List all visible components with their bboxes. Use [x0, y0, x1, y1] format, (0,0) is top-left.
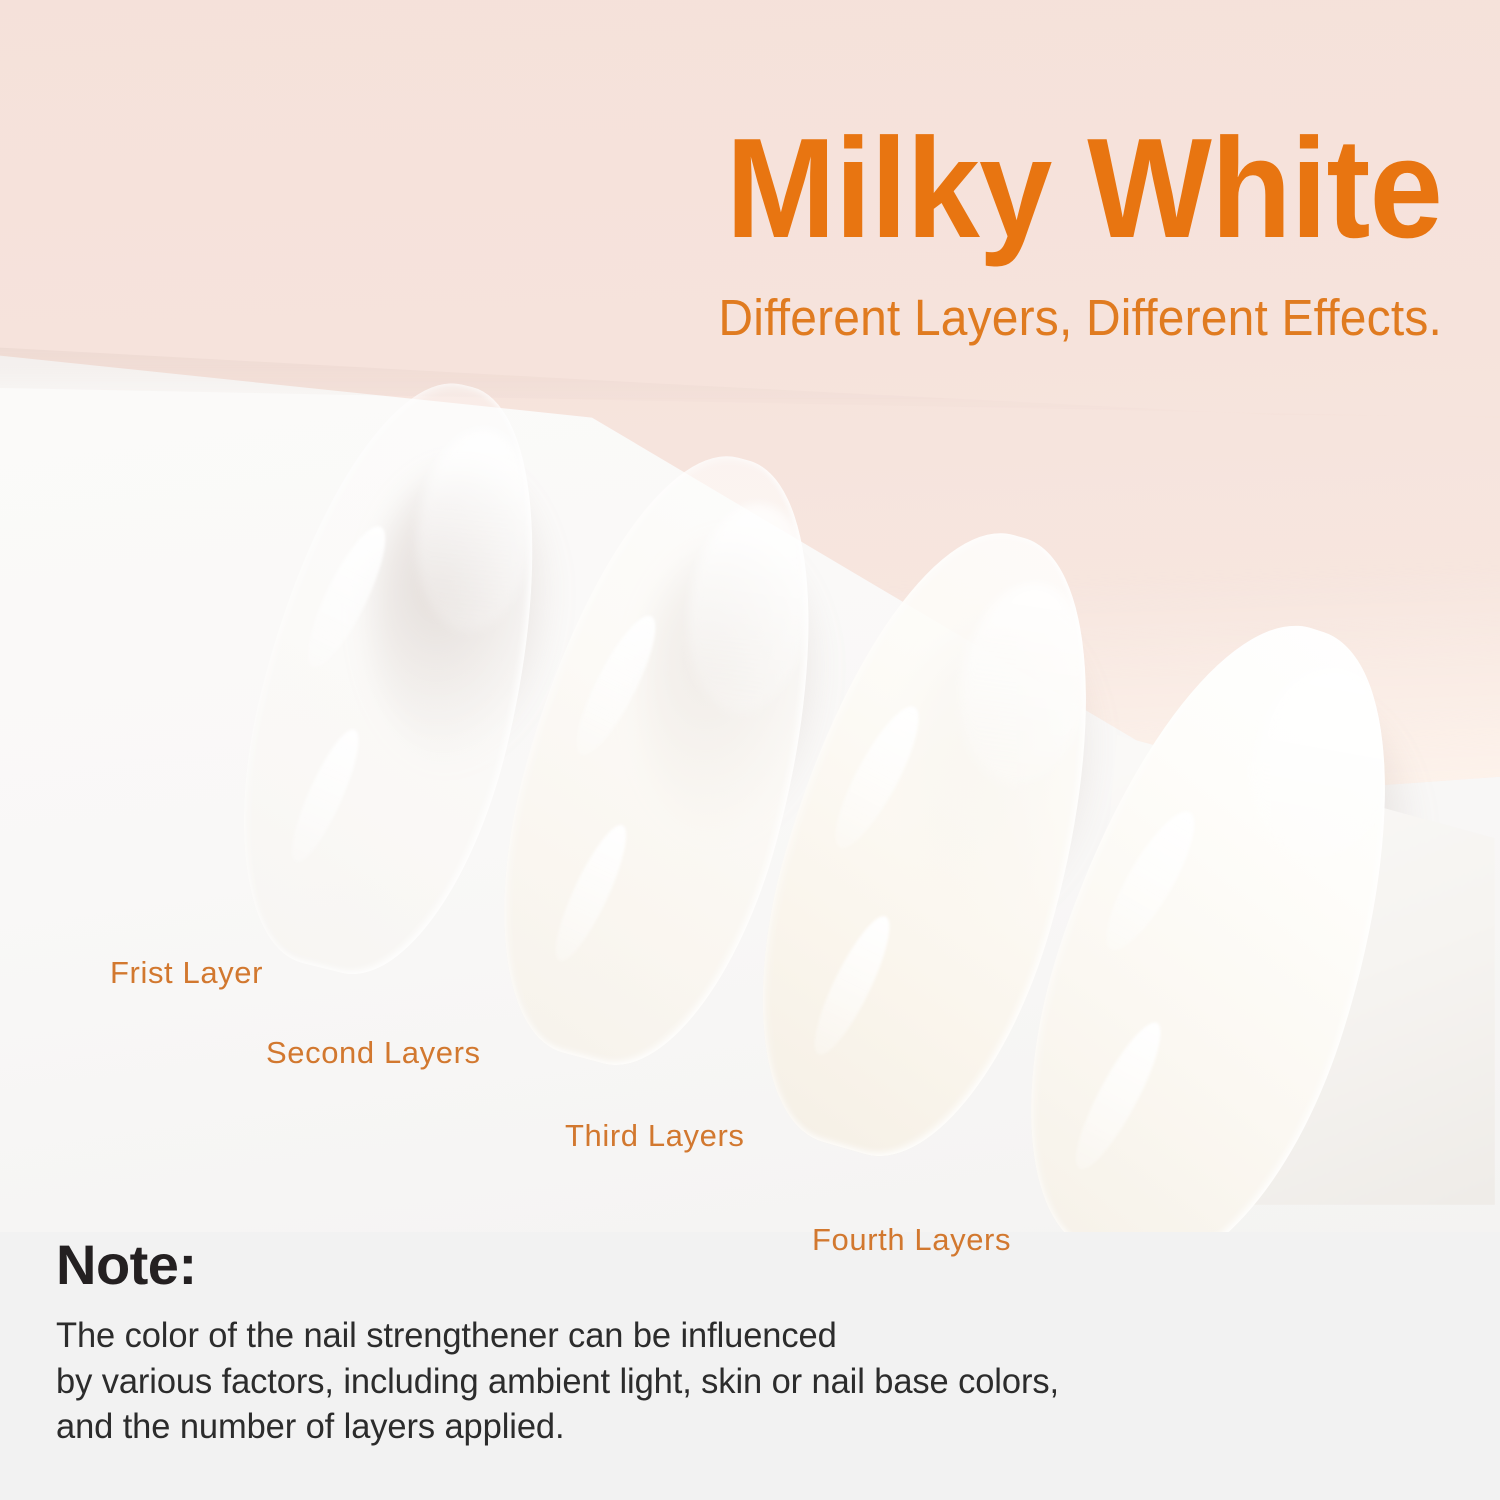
- product-infographic-poster: Milky White Different Layers, Different …: [0, 0, 1500, 1500]
- page-title: Milky White: [101, 118, 1442, 260]
- layer-label-third: Third Layers: [565, 1118, 745, 1154]
- layer-label-second: Second Layers: [266, 1035, 481, 1071]
- note-line-2: by various factors, including ambient li…: [56, 1359, 1439, 1405]
- note-line-1: The color of the nail strengthener can b…: [56, 1313, 1439, 1359]
- note-block: Note: The color of the nail strengthener…: [56, 1232, 1460, 1450]
- note-line-3: and the number of layers applied.: [56, 1404, 1439, 1450]
- note-body: The color of the nail strengthener can b…: [56, 1313, 1439, 1450]
- page-subtitle: Different Layers, Different Effects.: [87, 288, 1442, 347]
- layer-label-first: Frist Layer: [110, 955, 263, 991]
- note-heading: Note:: [56, 1232, 1460, 1297]
